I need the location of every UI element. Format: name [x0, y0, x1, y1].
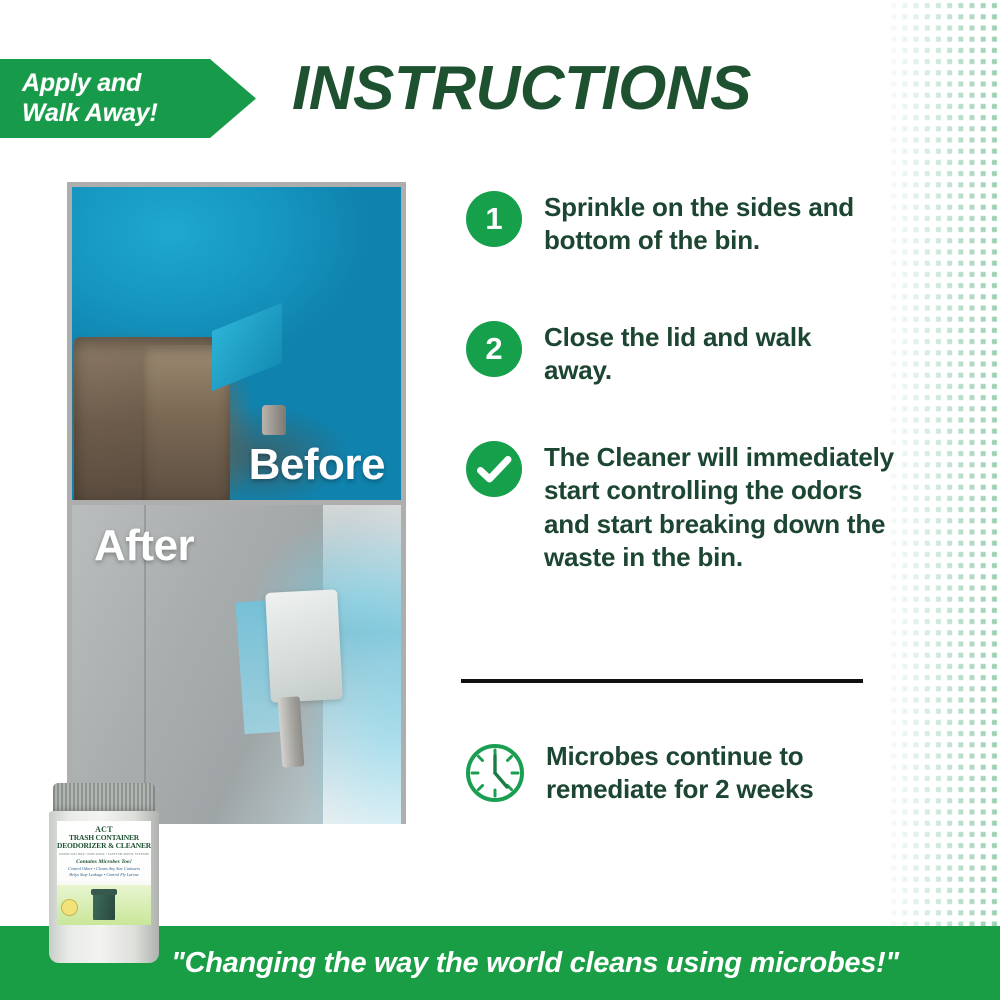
- before-caption: Before: [249, 440, 385, 490]
- bottle-label-artwork: [57, 885, 151, 925]
- after-clean-panel: [265, 589, 343, 703]
- ribbon-line-1: Apply and: [22, 69, 141, 97]
- tagline-text: "Changing the way the world cleans using…: [101, 947, 899, 980]
- before-drain-nub: [262, 405, 286, 435]
- apply-and-walk-away-ribbon: Apply and Walk Away!: [0, 59, 256, 138]
- clock-icon: [462, 740, 528, 806]
- bottle-label-line-2: DEODORIZER & CLEANER: [57, 842, 151, 850]
- bottle-cap: [53, 783, 155, 813]
- bottle-label: ACT TRASH CONTAINER DEODORIZER & CLEANER…: [57, 821, 151, 925]
- step-3-text: The Cleaner will immediately start contr…: [544, 441, 896, 574]
- microbes-footnote-text: Microbes continue to remediate for 2 wee…: [546, 740, 892, 807]
- step-2-text: Close the lid and walk away.: [544, 321, 886, 388]
- dot-pattern-svg: [888, 0, 1000, 928]
- product-bottle: ACT TRASH CONTAINER DEODORIZER & CLEANER…: [48, 783, 160, 963]
- ribbon-line-2: Walk Away!: [22, 99, 158, 127]
- before-after-photo-stack: Before After: [67, 182, 406, 824]
- check-circle-icon: [466, 441, 522, 497]
- microbes-footnote: Microbes continue to remediate for 2 wee…: [462, 740, 892, 807]
- step-1-text: Sprinkle on the sides and bottom of the …: [544, 191, 886, 258]
- step-2-number-badge: 2: [466, 321, 522, 377]
- after-caption: After: [94, 521, 194, 571]
- before-bin-wall: [212, 303, 282, 391]
- bottle-label-fineprint: WATER SOLUBLE • NON-TOXIC • SAFE FOR SEP…: [57, 852, 151, 856]
- step-1-number-badge: 1: [466, 191, 522, 247]
- bottle-label-bullets: Control Odors • Cleans Any Size Canister…: [57, 866, 151, 879]
- step-1: 1 Sprinkle on the sides and bottom of th…: [466, 191, 886, 258]
- after-drain-nub: [278, 696, 305, 767]
- bottle-label-contains: Contains Microbes Too!: [57, 859, 151, 865]
- halftone-dot-pattern: [888, 0, 1000, 928]
- step-3: The Cleaner will immediately start contr…: [466, 441, 896, 574]
- trash-bin-icon: [93, 893, 115, 920]
- step-2: 2 Close the lid and walk away.: [466, 321, 886, 388]
- product-seal-badge: [61, 899, 78, 916]
- after-photo: After: [72, 505, 401, 824]
- before-photo: Before: [72, 187, 401, 500]
- page-title: INSTRUCTIONS: [292, 58, 751, 120]
- ribbon-label: Apply and Walk Away!: [0, 69, 158, 128]
- infographic-page: Apply and Walk Away! INSTRUCTIONS Before…: [0, 0, 1000, 1000]
- section-divider: [461, 679, 863, 683]
